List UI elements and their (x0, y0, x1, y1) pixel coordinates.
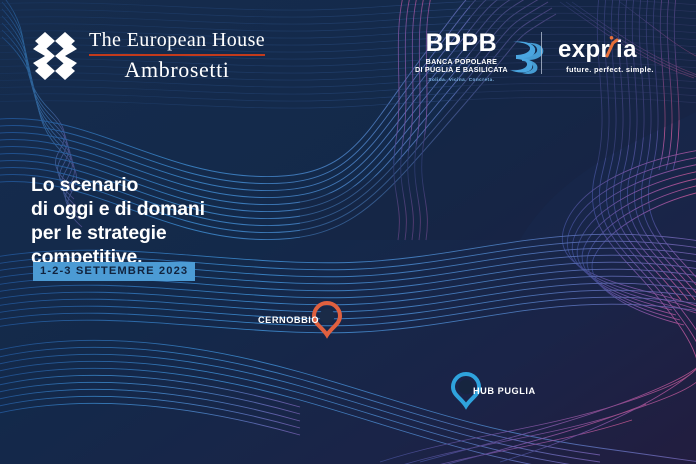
event-poster: The European House Ambrosetti BPPB BANCA… (0, 0, 696, 464)
bppb-text-column: BPPB BANCA POPOLARE DI PUGLIA E BASILICA… (415, 30, 508, 82)
svg-text:expr: expr (558, 36, 610, 62)
location-cernobbio: CERNOBBIO (258, 300, 344, 340)
event-date-badge: 1-2-3 SETTEMBRE 2023 (33, 262, 195, 281)
logo-divider (541, 32, 542, 74)
ambrosetti-line1: The European House (89, 30, 265, 51)
location-label-hub-puglia: HUB PUGLIA (473, 386, 536, 396)
bppb-wordmark: BPPB (426, 31, 497, 56)
headline-line-3: per le strategie (31, 222, 205, 246)
page-title: Lo scenario di oggi e di domani per le s… (31, 174, 205, 269)
location-label-cernobbio: CERNOBBIO (258, 315, 319, 325)
ambrosetti-logo: The European House Ambrosetti (31, 30, 265, 82)
headline-line-1: Lo scenario (31, 174, 205, 198)
bppb-logo: BPPB BANCA POPOLARE DI PUGLIA E BASILICA… (415, 30, 547, 82)
ambrosetti-rule (89, 54, 265, 56)
ambrosetti-line2: Ambrosetti (125, 58, 230, 81)
bppb-tagline: Solida. Vicina. Concreta. (428, 77, 494, 82)
exprivia-tagline: future. perfect. simple. (566, 65, 654, 74)
location-hub-puglia: HUB PUGLIA (449, 371, 536, 411)
exprivia-logo: expr ia future. perfect. simple. (558, 36, 662, 74)
exprivia-wordmark: expr ia (558, 36, 662, 62)
ambrosetti-double-diamond-mark (31, 30, 79, 82)
ambrosetti-wordmark: The European House Ambrosetti (89, 30, 265, 81)
bppb-subtitle-line2: DI PUGLIA E BASILICATA (415, 66, 508, 75)
svg-text:ia: ia (616, 36, 637, 62)
headline-line-2: di oggi e di domani (31, 198, 205, 222)
